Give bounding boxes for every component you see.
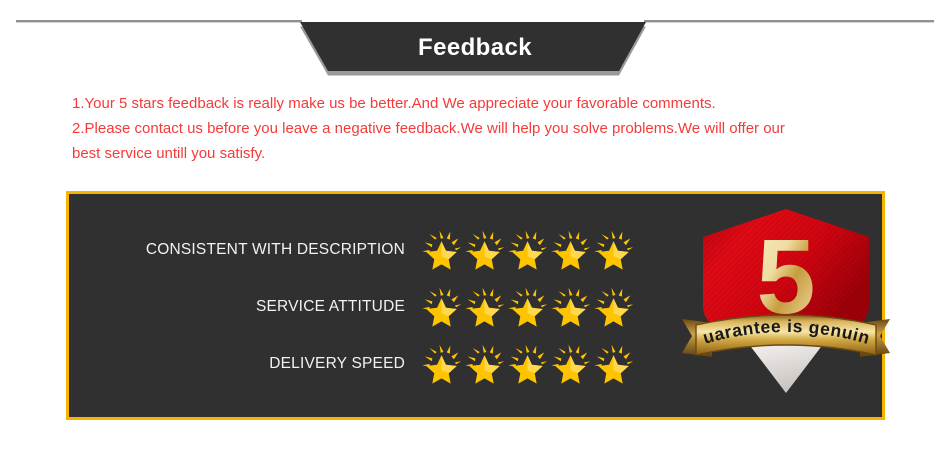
sparkle-star-icon xyxy=(463,344,506,384)
rating-stars-service-attitude xyxy=(420,287,635,327)
guarantee-shield-icon: 5 guarantee is genuine xyxy=(678,197,894,395)
rating-row: SERVICE ATTITUDE xyxy=(69,283,635,331)
sparkle-star-icon xyxy=(549,344,592,384)
sparkle-star-icon xyxy=(592,230,635,270)
sparkle-star-icon xyxy=(549,287,592,327)
rating-stars-delivery-speed xyxy=(420,344,635,384)
sparkle-star-icon xyxy=(592,287,635,327)
banner-rule-left xyxy=(16,20,302,22)
rating-label-delivery-speed: DELIVERY SPEED xyxy=(69,355,420,373)
sparkle-star-icon xyxy=(592,344,635,384)
rating-label-service-attitude: SERVICE ATTITUDE xyxy=(69,298,420,316)
notice-line-1: 1.Your 5 stars feedback is really make u… xyxy=(72,91,892,116)
sparkle-star-icon xyxy=(420,230,463,270)
page-title: Feedback xyxy=(0,34,950,62)
rating-label-consistent-with-description: CONSISTENT WITH DESCRIPTION xyxy=(69,241,420,259)
rating-stars-consistent-with-description xyxy=(420,230,635,270)
sparkle-star-icon xyxy=(420,344,463,384)
sparkle-star-icon xyxy=(420,287,463,327)
banner-rule-right xyxy=(644,20,934,22)
notice-line-3: best service untill you satisfy. xyxy=(72,141,892,166)
sparkle-star-icon xyxy=(506,230,549,270)
page-header-banner: Feedback xyxy=(0,0,950,86)
ratings-panel: CONSISTENT WITH DESCRIPTION xyxy=(66,191,885,420)
rating-row: CONSISTENT WITH DESCRIPTION xyxy=(69,226,635,274)
guarantee-badge: 5 guarantee is genuine xyxy=(678,197,894,395)
notice-line-2: 2.Please contact us before you leave a n… xyxy=(72,116,892,141)
sparkle-star-icon xyxy=(463,287,506,327)
ratings-list: CONSISTENT WITH DESCRIPTION xyxy=(69,226,635,397)
rating-row: DELIVERY SPEED xyxy=(69,340,635,388)
sparkle-star-icon xyxy=(549,230,592,270)
sparkle-star-icon xyxy=(506,287,549,327)
sparkle-star-icon xyxy=(463,230,506,270)
feedback-notice: 1.Your 5 stars feedback is really make u… xyxy=(72,91,892,166)
sparkle-star-icon xyxy=(506,344,549,384)
